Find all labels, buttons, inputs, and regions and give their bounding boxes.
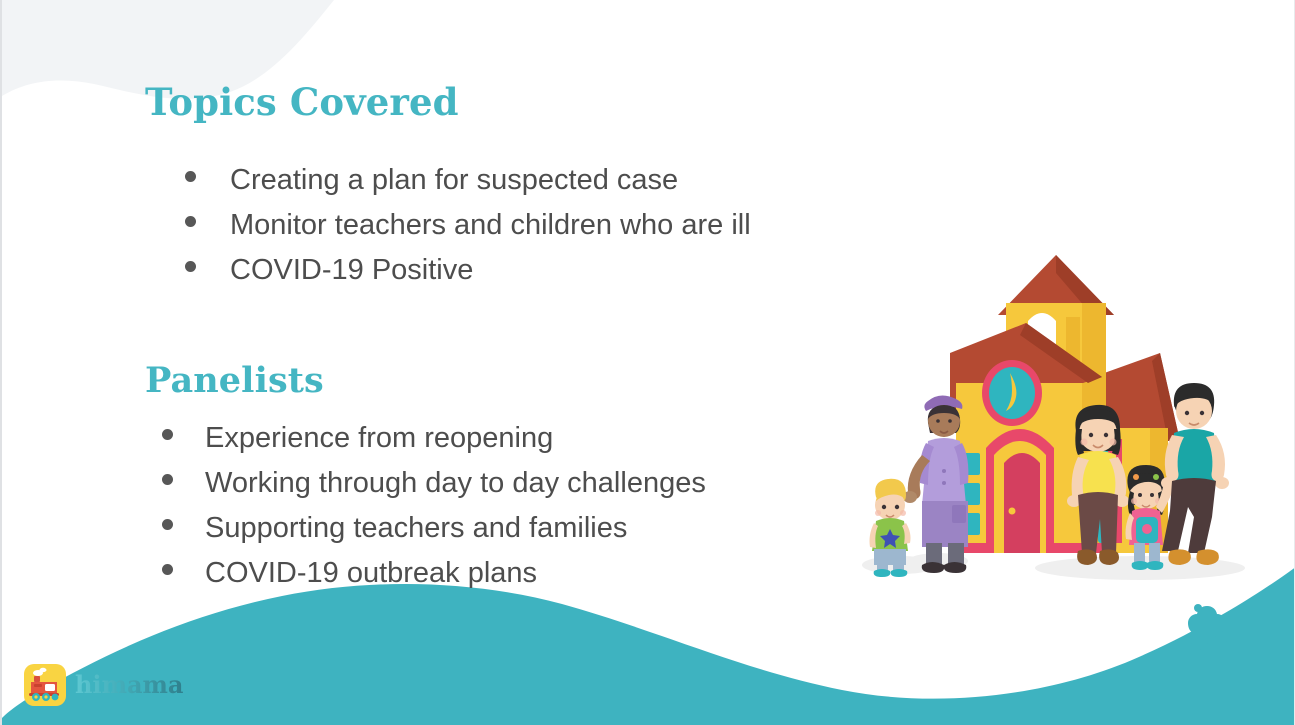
list-item: Creating a plan for suspected case: [185, 158, 751, 203]
topics-covered-heading: Topics Covered: [145, 80, 459, 124]
list-item: Experience from reopening: [162, 416, 706, 461]
bullet-dot-icon: [162, 519, 173, 530]
list-item-label: Creating a plan for suspected case: [230, 158, 678, 203]
himama-wordmark-text: himama: [75, 672, 183, 698]
bullet-dot-icon: [185, 261, 196, 272]
teacher-figure: [903, 395, 968, 573]
list-item: COVID-19 outbreak plans: [162, 551, 706, 596]
list-item: Monitor teachers and children who are il…: [185, 203, 751, 248]
list-item: Working through day to day challenges: [162, 461, 706, 506]
boy-figure: [870, 479, 911, 577]
slide-canvas: Topics Covered Creating a plan for suspe…: [0, 0, 1295, 725]
list-item: Supporting teachers and families: [162, 506, 706, 551]
school-and-family-illustration: [860, 243, 1260, 593]
list-item: COVID-19 Positive: [185, 248, 751, 293]
bullet-dot-icon: [185, 171, 196, 182]
train-icon: [24, 664, 66, 706]
bullet-dot-icon: [185, 216, 196, 227]
list-item-label: Experience from reopening: [205, 416, 553, 461]
himama-wordmark: himama: [75, 672, 195, 698]
bullet-dot-icon: [162, 474, 173, 485]
bullet-dot-icon: [162, 429, 173, 440]
list-item-label: Supporting teachers and families: [205, 506, 627, 551]
puzzle-piece-icon: [1188, 604, 1227, 656]
list-item-label: Working through day to day challenges: [205, 461, 706, 506]
list-item-label: Monitor teachers and children who are il…: [230, 203, 751, 248]
topics-covered-list: Creating a plan for suspected case Monit…: [185, 158, 751, 293]
list-item-label: COVID-19 outbreak plans: [205, 551, 537, 596]
list-item-label: COVID-19 Positive: [230, 248, 473, 293]
bullet-dot-icon: [162, 564, 173, 575]
panelists-list: Experience from reopening Working throug…: [162, 416, 706, 596]
panelists-heading: Panelists: [145, 360, 324, 401]
himama-logo[interactable]: himama: [24, 664, 195, 706]
